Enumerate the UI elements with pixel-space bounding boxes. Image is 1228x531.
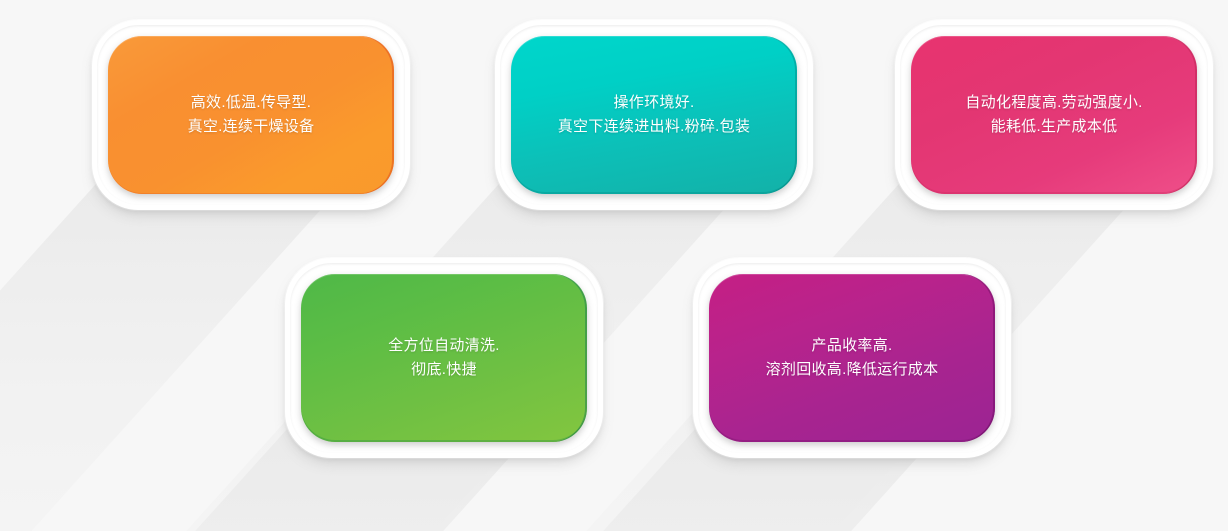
product-yield-card-text: 产品收率高. 溶剂回收高.降低运行成本 bbox=[752, 334, 953, 382]
auto-cleaning-card[interactable]: 全方位自动清洗. 彻底.快捷 bbox=[285, 258, 603, 458]
automation-card-panel: 自动化程度高.劳动强度小. 能耗低.生产成本低 bbox=[911, 36, 1197, 194]
efficiency-card-panel: 高效.低温.传导型. 真空.连续干燥设备 bbox=[108, 36, 394, 194]
product-yield-card[interactable]: 产品收率高. 溶剂回收高.降低运行成本 bbox=[693, 258, 1011, 458]
product-yield-card-panel: 产品收率高. 溶剂回收高.降低运行成本 bbox=[709, 274, 995, 442]
auto-cleaning-card-panel: 全方位自动清洗. 彻底.快捷 bbox=[301, 274, 587, 442]
efficiency-card[interactable]: 高效.低温.传导型. 真空.连续干燥设备 bbox=[92, 20, 410, 210]
operating-environment-card[interactable]: 操作环境好. 真空下连续进出料.粉碎.包装 bbox=[495, 20, 813, 210]
automation-card-text: 自动化程度高.劳动强度小. 能耗低.生产成本低 bbox=[951, 91, 1156, 139]
operating-environment-card-panel: 操作环境好. 真空下连续进出料.粉碎.包装 bbox=[511, 36, 797, 194]
operating-environment-card-text: 操作环境好. 真空下连续进出料.粉碎.包装 bbox=[544, 91, 765, 139]
efficiency-card-text: 高效.低温.传导型. 真空.连续干燥设备 bbox=[174, 91, 329, 139]
auto-cleaning-card-text: 全方位自动清洗. 彻底.快捷 bbox=[374, 334, 514, 382]
automation-card[interactable]: 自动化程度高.劳动强度小. 能耗低.生产成本低 bbox=[895, 20, 1213, 210]
slide-canvas: 高效.低温.传导型. 真空.连续干燥设备 操作环境好. 真空下连续进出料.粉碎.… bbox=[0, 0, 1228, 531]
